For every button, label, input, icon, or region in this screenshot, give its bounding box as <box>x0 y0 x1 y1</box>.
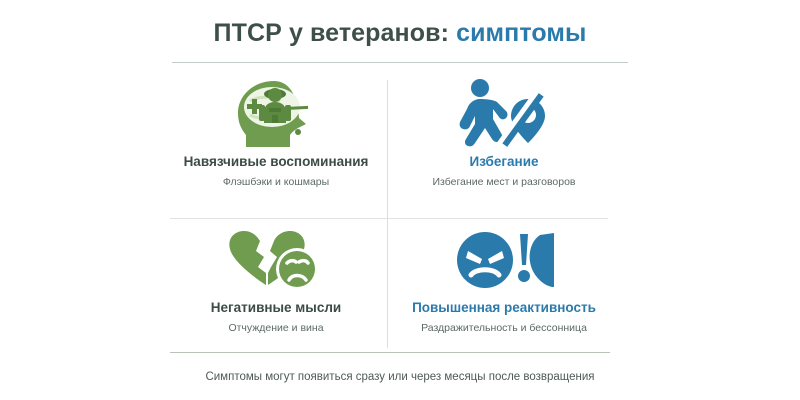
quadrant-subtitle: Избегание мест и разговоров <box>398 175 610 189</box>
broken-heart-sad-face-icon <box>170 224 382 296</box>
footer-divider <box>170 352 610 353</box>
page-title: ПТСР у ветеранов: симптомы <box>0 18 800 48</box>
page-title-accent: симптомы <box>456 19 586 47</box>
quadrant-intrusive-memories: Навязчивые воспоминания Флэшбэки и кошма… <box>170 74 382 189</box>
head-with-soldier-icon <box>170 74 382 150</box>
quadrant-heading: Навязчивые воспоминания <box>170 154 382 170</box>
quadrant-hyperarousal: Повышенная реактивность Раздражительност… <box>398 224 610 335</box>
quadrant-negative-thoughts: Негативные мысли Отчуждение и вина <box>170 224 382 335</box>
quadrant-subtitle: Флэшбэки и кошмары <box>170 175 382 189</box>
quadrant-heading: Избегание <box>398 154 610 170</box>
title-divider <box>172 62 628 63</box>
quadrant-heading: Негативные мысли <box>170 300 382 316</box>
title-block: ПТСР у ветеранов: симптомы <box>0 18 800 48</box>
walking-person-no-location-icon <box>398 74 610 150</box>
grid-horizontal-divider <box>170 218 608 219</box>
symptom-grid: Навязчивые воспоминания Флэшбэки и кошма… <box>170 74 610 349</box>
ptsd-symptoms-infographic: ПТСР у ветеранов: симптомы <box>0 0 800 400</box>
quadrant-avoidance: Избегание Избегание мест и разговоров <box>398 74 610 189</box>
page-title-main: ПТСР у ветеранов: <box>214 19 449 47</box>
quadrant-subtitle: Раздражительность и бессонница <box>398 321 610 335</box>
grid-vertical-divider <box>387 80 388 348</box>
quadrant-subtitle: Отчуждение и вина <box>170 321 382 335</box>
footer-note: Симптомы могут появиться сразу или через… <box>0 370 800 385</box>
quadrant-heading: Повышенная реактивность <box>398 300 610 316</box>
angry-face-exclamation-moon-icon <box>398 224 610 296</box>
